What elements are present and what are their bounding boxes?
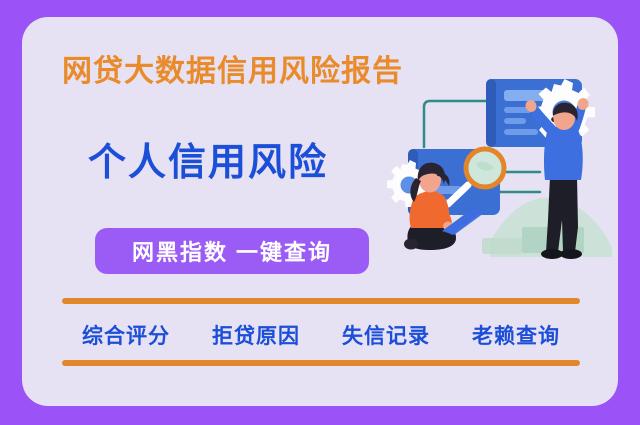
feature-item-score[interactable]: 综合评分 <box>82 320 170 350</box>
feature-item-dishonesty[interactable]: 失信记录 <box>342 320 430 350</box>
subtitle: 个人信用风险 <box>88 144 328 182</box>
poster-card: 网贷大数据信用风险报告 个人信用风险 网黑指数 一键查询 综合评分 拒贷原因 失… <box>22 17 618 406</box>
query-cta-button[interactable]: 网黑指数 一键查询 <box>95 228 369 274</box>
feature-item-deadbeat[interactable]: 老赖查询 <box>472 320 560 350</box>
feature-list: 综合评分 拒贷原因 失信记录 老赖查询 <box>62 320 580 350</box>
page-title: 网贷大数据信用风险报告 <box>62 57 403 87</box>
divider-top <box>62 298 580 304</box>
data-analysis-illustration <box>372 52 618 287</box>
feature-item-rejection[interactable]: 拒贷原因 <box>212 320 300 350</box>
promo-poster: 网贷大数据信用风险报告 个人信用风险 网黑指数 一键查询 综合评分 拒贷原因 失… <box>0 0 640 425</box>
query-cta-label: 网黑指数 一键查询 <box>132 235 332 267</box>
divider-bottom <box>62 360 580 366</box>
